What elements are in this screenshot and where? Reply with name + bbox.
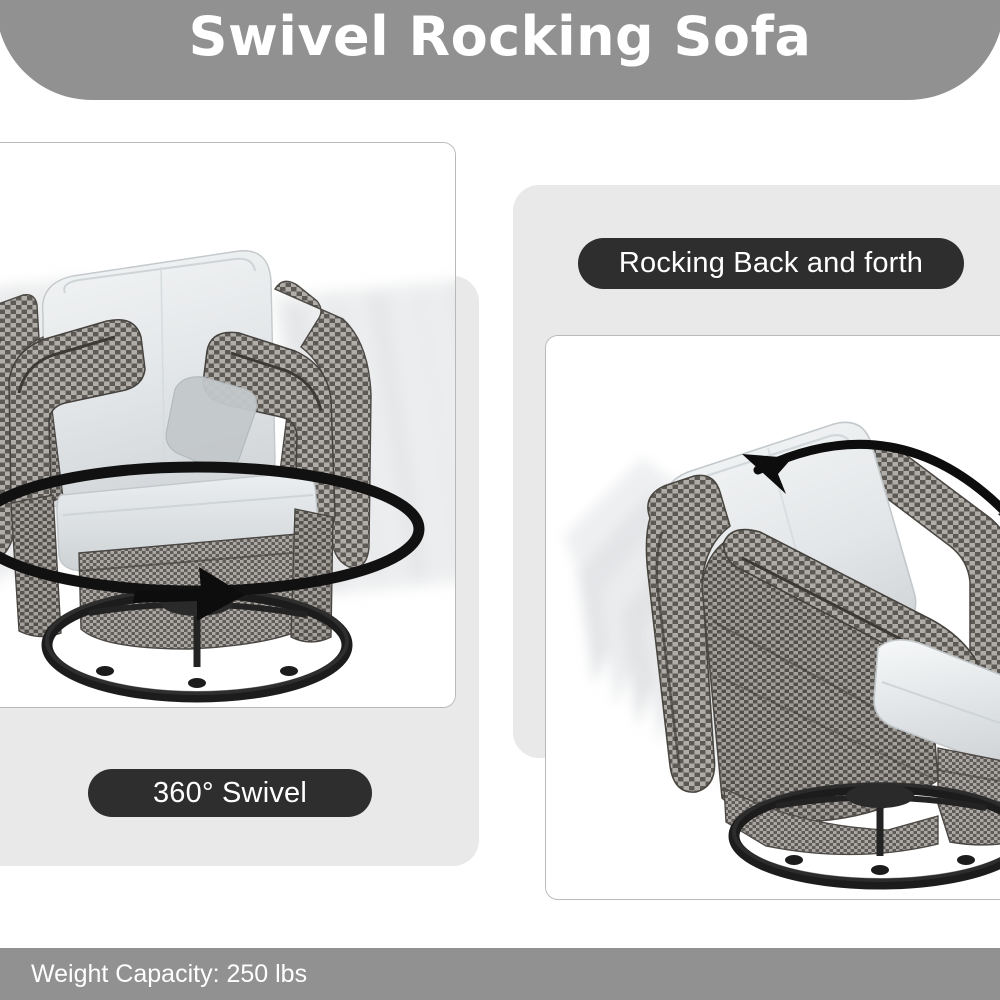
page-title: Swivel Rocking Sofa — [0, 0, 1000, 74]
header-banner: Swivel Rocking Sofa — [0, 0, 1000, 100]
rocking-caption-label: Rocking Back and forth — [619, 247, 923, 280]
rocking-chair-illustration — [546, 336, 1000, 899]
swivel-product-card — [0, 142, 456, 708]
weight-capacity-label: Weight Capacity: 250 lbs — [0, 960, 307, 989]
rocking-product-card — [545, 335, 1000, 900]
swivel-caption-pill: 360° Swivel — [88, 769, 372, 817]
footer-bar: Weight Capacity: 250 lbs — [0, 948, 1000, 1000]
rocking-caption-pill: Rocking Back and forth — [578, 238, 964, 289]
swivel-caption-label: 360° Swivel — [153, 777, 307, 810]
infographic-canvas: Swivel Rocking Sofa — [0, 0, 1000, 1000]
swivel-chair-illustration — [0, 143, 455, 707]
